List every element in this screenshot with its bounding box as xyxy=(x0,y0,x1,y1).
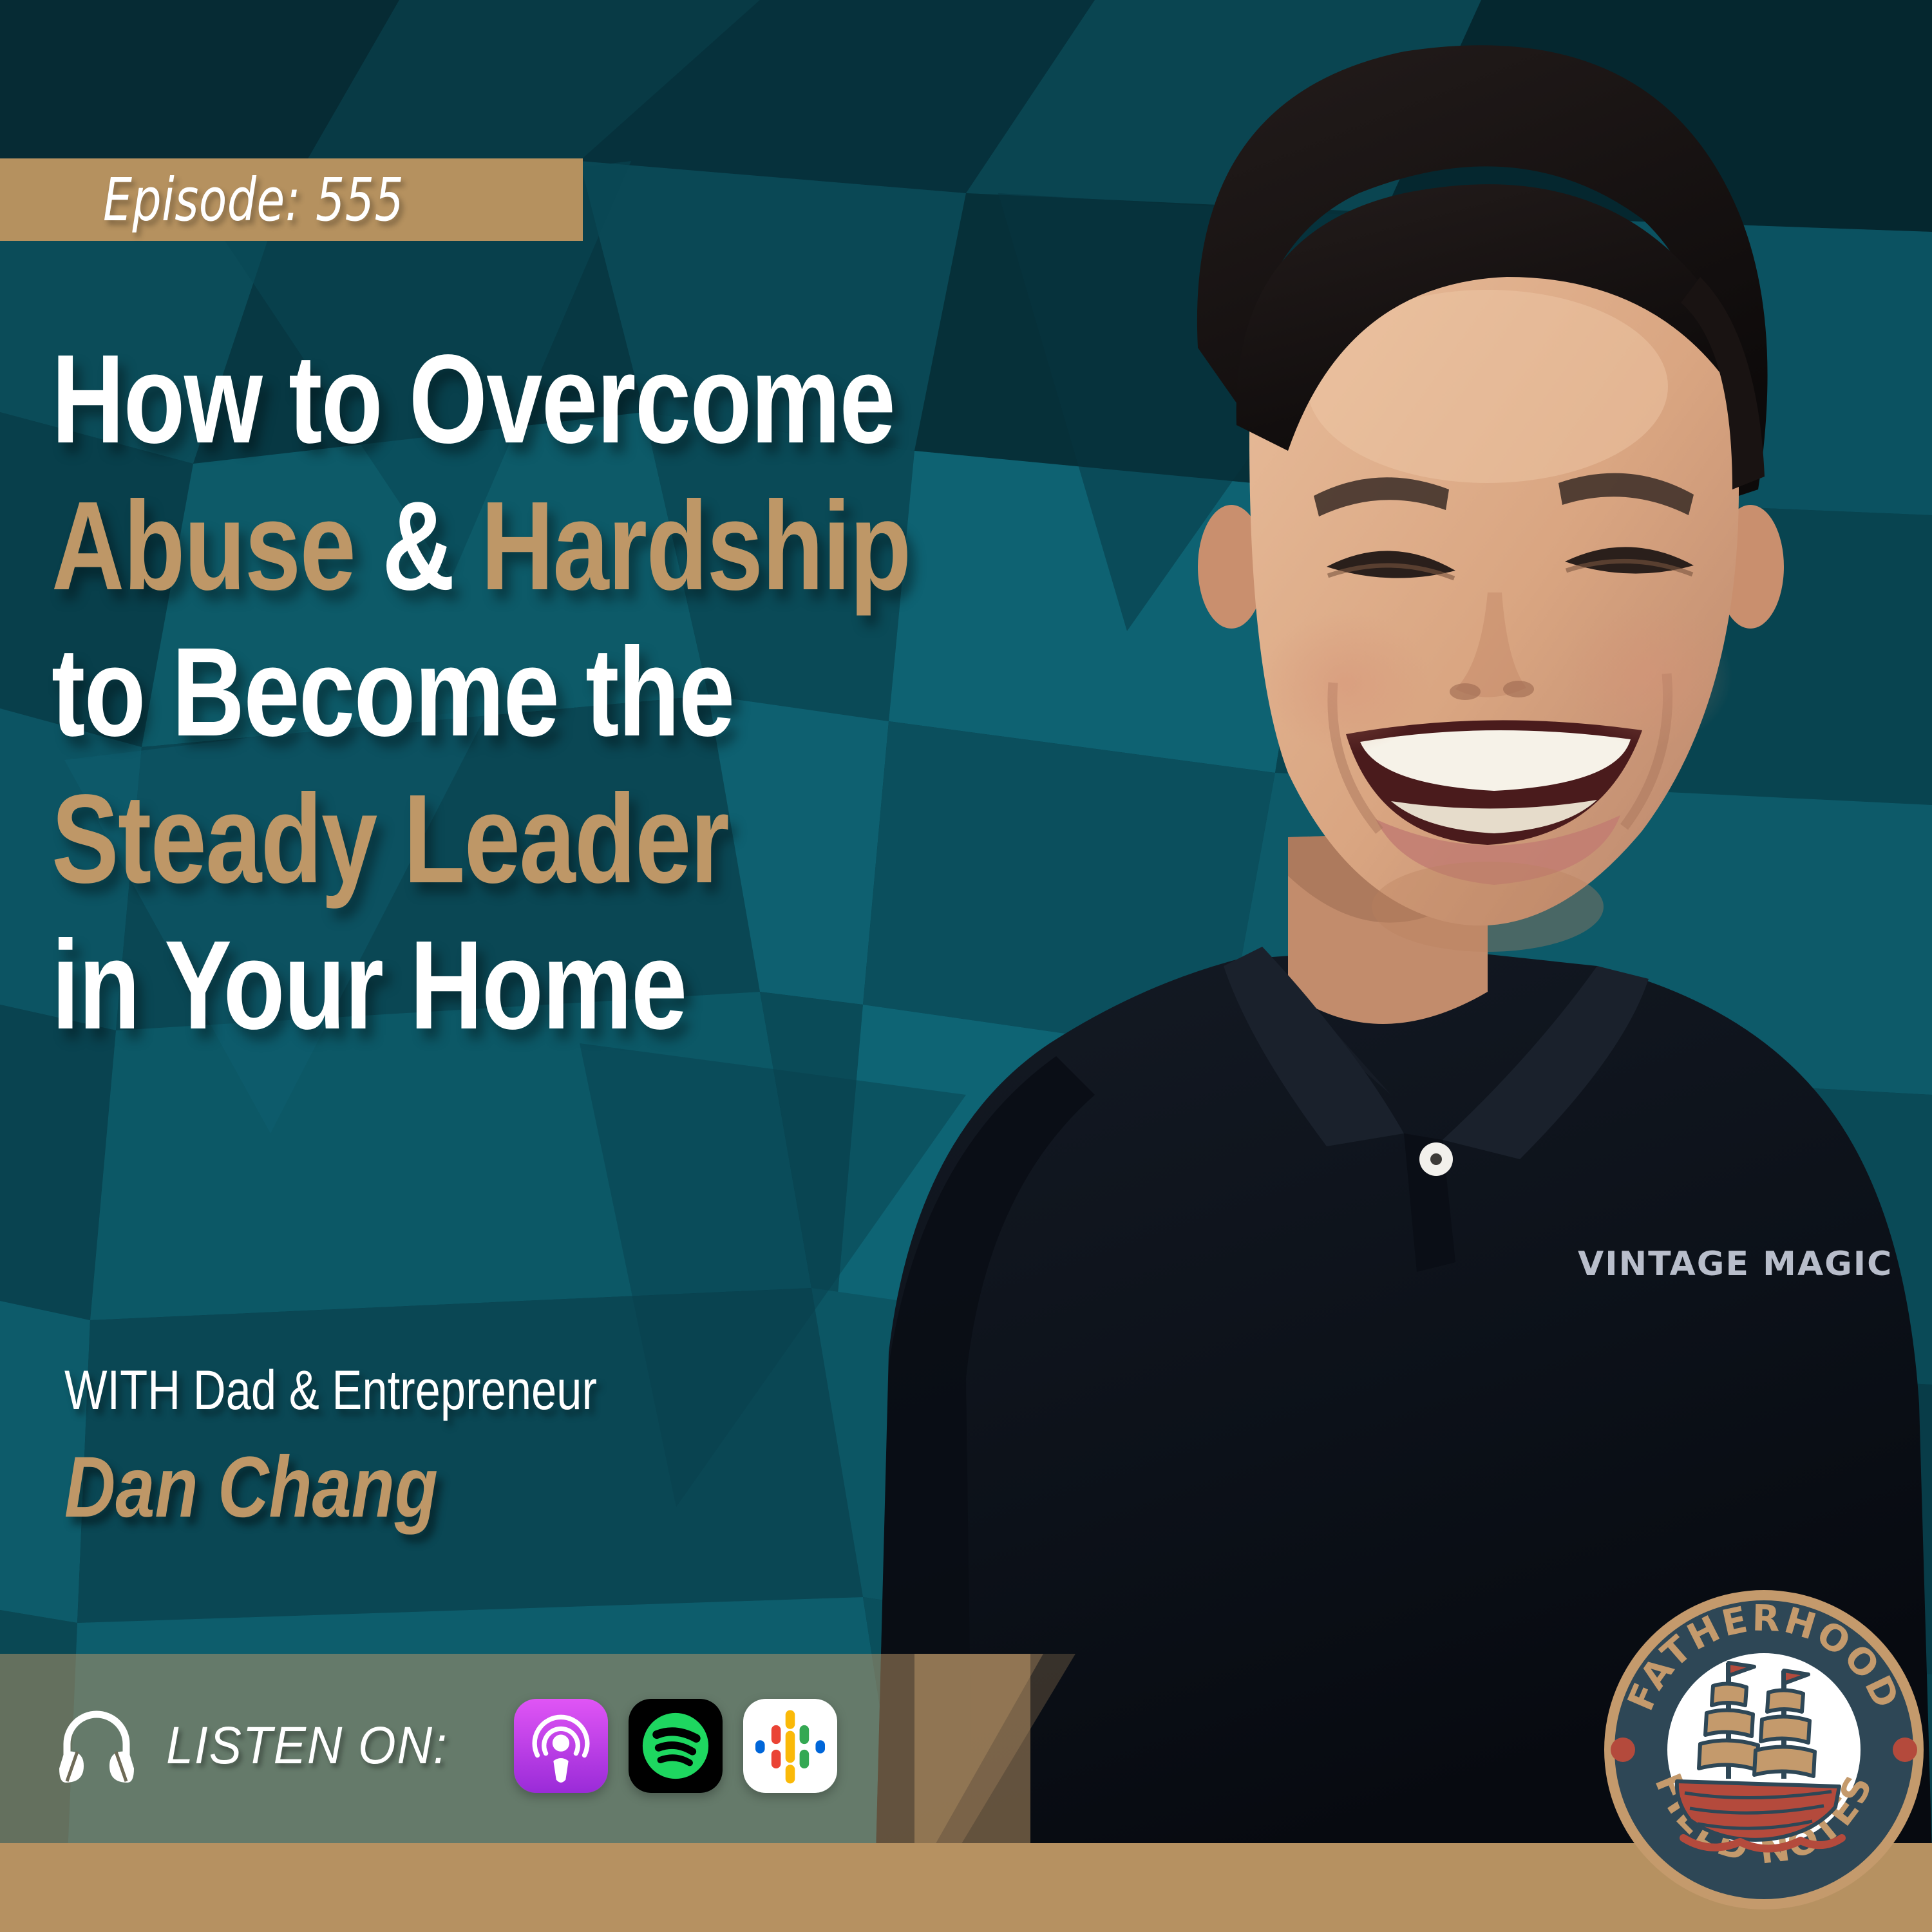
guest-credit: WITH Dad & Entrepreneur Dan Chang xyxy=(64,1359,714,1537)
title-ampersand: & xyxy=(382,475,454,616)
guest-name: Dan Chang xyxy=(64,1438,597,1537)
episode-badge: Episode: 555 xyxy=(0,158,583,241)
podcast-cover-art: VINTAGE MAGIC xyxy=(0,0,1932,1932)
title-line-4: Steady Leader xyxy=(52,770,1061,909)
headphones-icon xyxy=(58,1704,135,1788)
guest-role-line: WITH Dad & Entrepreneur xyxy=(64,1359,597,1423)
title-line-2: Abuse & Hardship xyxy=(52,477,1061,616)
spotify-icon[interactable] xyxy=(629,1699,723,1793)
title-word-hardship: Hardship xyxy=(481,475,911,616)
title-line-5: in Your Home xyxy=(52,916,1061,1055)
google-podcasts-icon[interactable] xyxy=(743,1699,837,1793)
title-line-1: How to Overcome xyxy=(52,330,1061,469)
brand-logo-badge: FATHERHOOD FIELD NOTES xyxy=(1600,1586,1928,1914)
title-line-3: to Become the xyxy=(52,623,1061,762)
episode-label: Episode: 555 xyxy=(103,166,404,234)
platform-icon-group xyxy=(514,1699,837,1793)
episode-title: How to Overcome Abuse & Hardship to Beco… xyxy=(52,330,1314,1063)
apple-podcasts-icon[interactable] xyxy=(514,1699,608,1793)
listen-on-row: LISTEN ON: xyxy=(58,1699,837,1793)
title-word-abuse: Abuse xyxy=(52,475,355,616)
listen-band-taper xyxy=(914,1654,1146,1847)
listen-on-label: LISTEN ON: xyxy=(166,1716,448,1776)
shirt-embroidery-text: VINTAGE MAGIC xyxy=(1578,1245,1893,1283)
